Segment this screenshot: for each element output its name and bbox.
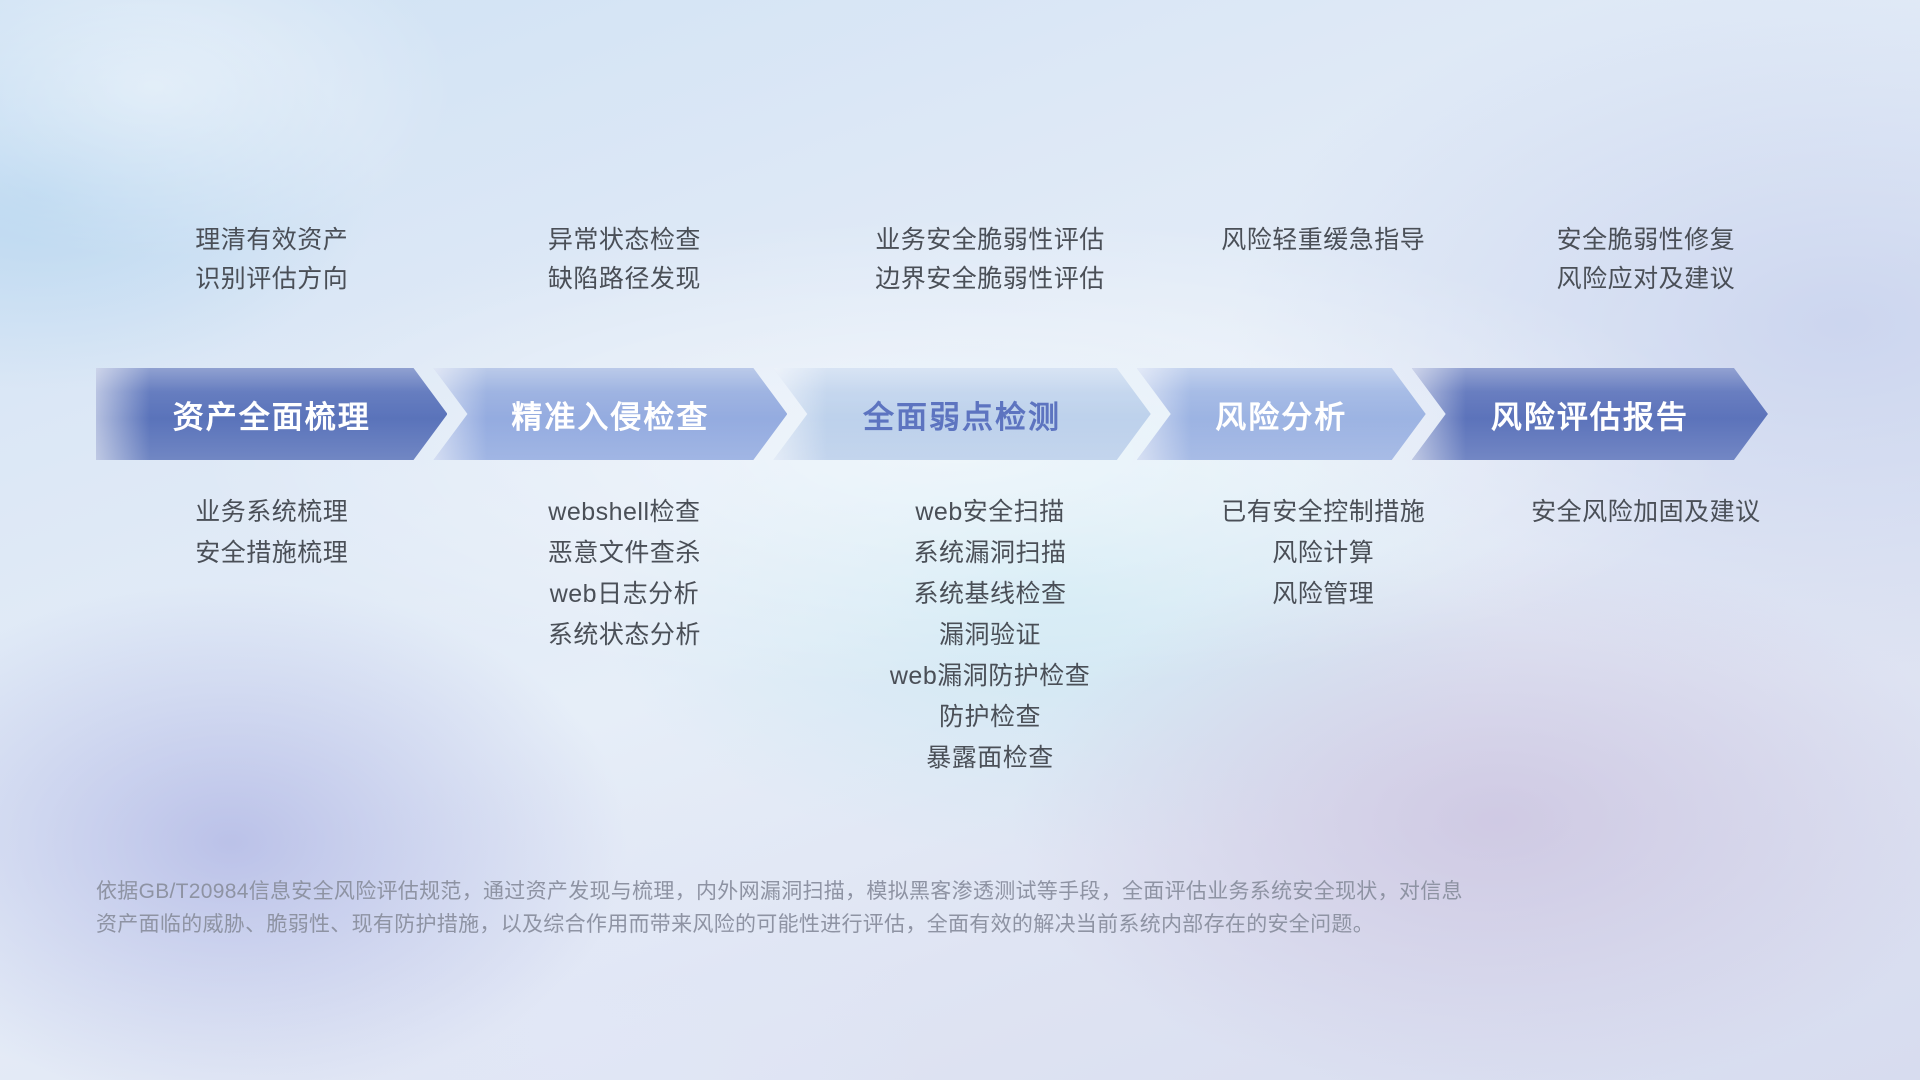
stage-title: 风险评估报告 — [1491, 392, 1689, 437]
stage-title: 精准入侵检查 — [511, 392, 709, 437]
footer-line-1: 依据GB/T20984信息安全风险评估规范，通过资产发现与梳理，内外网漏洞扫描，… — [96, 876, 1596, 909]
bottom-item: 系统漏洞扫描 — [914, 541, 1067, 566]
top-items-column-4: 风险轻重缓急指导 — [1179, 228, 1468, 328]
bottom-items-column-2: webshell检查恶意文件查杀web日志分析系统状态分析 — [447, 500, 801, 771]
top-items-column-3: 业务安全脆弱性评估边界安全脆弱性评估 — [801, 228, 1178, 328]
bottom-item: 安全措施梳理 — [195, 541, 348, 566]
bottom-item: 暴露面检查 — [926, 746, 1054, 771]
stage-chevron-1[interactable]: 资产全面梳理 — [96, 368, 447, 460]
bottom-items-column-1: 业务系统梳理安全措施梳理 — [96, 500, 447, 771]
bottom-item: web漏洞防护检查 — [890, 664, 1090, 689]
content-frame: 理清有效资产识别评估方向异常状态检查缺陷路径发现业务安全脆弱性评估边界安全脆弱性… — [96, 0, 1824, 1080]
bottom-item: 安全风险加固及建议 — [1531, 500, 1761, 525]
top-item: 业务安全脆弱性评估 — [875, 228, 1105, 253]
top-item: 异常状态检查 — [548, 228, 701, 253]
top-item: 边界安全脆弱性评估 — [875, 267, 1105, 292]
footer-line-2: 资产面临的威胁、脆弱性、现有防护措施，以及综合作用而带来风险的可能性进行评估，全… — [96, 909, 1596, 942]
bottom-item: 恶意文件查杀 — [548, 541, 701, 566]
top-items-column-2: 异常状态检查缺陷路径发现 — [447, 228, 801, 328]
top-item: 缺陷路径发现 — [548, 267, 701, 292]
footer-note: 依据GB/T20984信息安全风险评估规范，通过资产发现与梳理，内外网漏洞扫描，… — [96, 876, 1596, 941]
bottom-items-column-5: 安全风险加固及建议 — [1468, 500, 1824, 771]
bottom-item: web安全扫描 — [915, 500, 1064, 525]
bottom-items-column-3: web安全扫描系统漏洞扫描系统基线检查漏洞验证web漏洞防护检查防护检查暴露面检… — [801, 500, 1178, 771]
top-items-column-5: 安全脆弱性修复风险应对及建议 — [1468, 228, 1824, 328]
bottom-item: 防护检查 — [939, 705, 1041, 730]
stage-chevron-3[interactable]: 全面弱点检测 — [773, 368, 1150, 460]
bottom-item: 已有安全控制措施 — [1221, 500, 1425, 525]
top-item: 理清有效资产 — [195, 228, 348, 253]
top-label-row: 理清有效资产识别评估方向异常状态检查缺陷路径发现业务安全脆弱性评估边界安全脆弱性… — [96, 228, 1824, 328]
stage-chevron-5[interactable]: 风险评估报告 — [1412, 368, 1768, 460]
top-item: 风险应对及建议 — [1557, 267, 1736, 292]
top-items-column-1: 理清有效资产识别评估方向 — [96, 228, 447, 328]
bottom-item: web日志分析 — [550, 582, 699, 607]
top-item: 安全脆弱性修复 — [1557, 228, 1736, 253]
bottom-item: 漏洞验证 — [939, 623, 1041, 648]
top-item: 识别评估方向 — [195, 267, 348, 292]
bottom-item: 业务系统梳理 — [195, 500, 348, 525]
bottom-item: webshell检查 — [548, 500, 700, 525]
chevron-band: 资产全面梳理精准入侵检查全面弱点检测风险分析风险评估报告 — [96, 368, 1824, 460]
stage-title: 全面弱点检测 — [863, 392, 1061, 437]
stage-title: 资产全面梳理 — [173, 392, 371, 437]
bottom-item: 风险计算 — [1272, 541, 1374, 566]
chevron-edge-highlight — [96, 368, 150, 460]
bottom-item: 风险管理 — [1272, 582, 1374, 607]
bottom-item: 系统状态分析 — [548, 623, 701, 648]
bottom-label-row: 业务系统梳理安全措施梳理webshell检查恶意文件查杀web日志分析系统状态分… — [96, 500, 1824, 771]
top-item: 风险轻重缓急指导 — [1221, 228, 1425, 253]
stage-chevron-4[interactable]: 风险分析 — [1137, 368, 1426, 460]
stage-chevron-2[interactable]: 精准入侵检查 — [433, 368, 787, 460]
stage-title: 风险分析 — [1215, 392, 1347, 437]
bottom-items-column-4: 已有安全控制措施风险计算风险管理 — [1179, 500, 1468, 771]
bottom-item: 系统基线检查 — [914, 582, 1067, 607]
diagram-stage: 理清有效资产识别评估方向异常状态检查缺陷路径发现业务安全脆弱性评估边界安全脆弱性… — [0, 0, 1920, 1080]
